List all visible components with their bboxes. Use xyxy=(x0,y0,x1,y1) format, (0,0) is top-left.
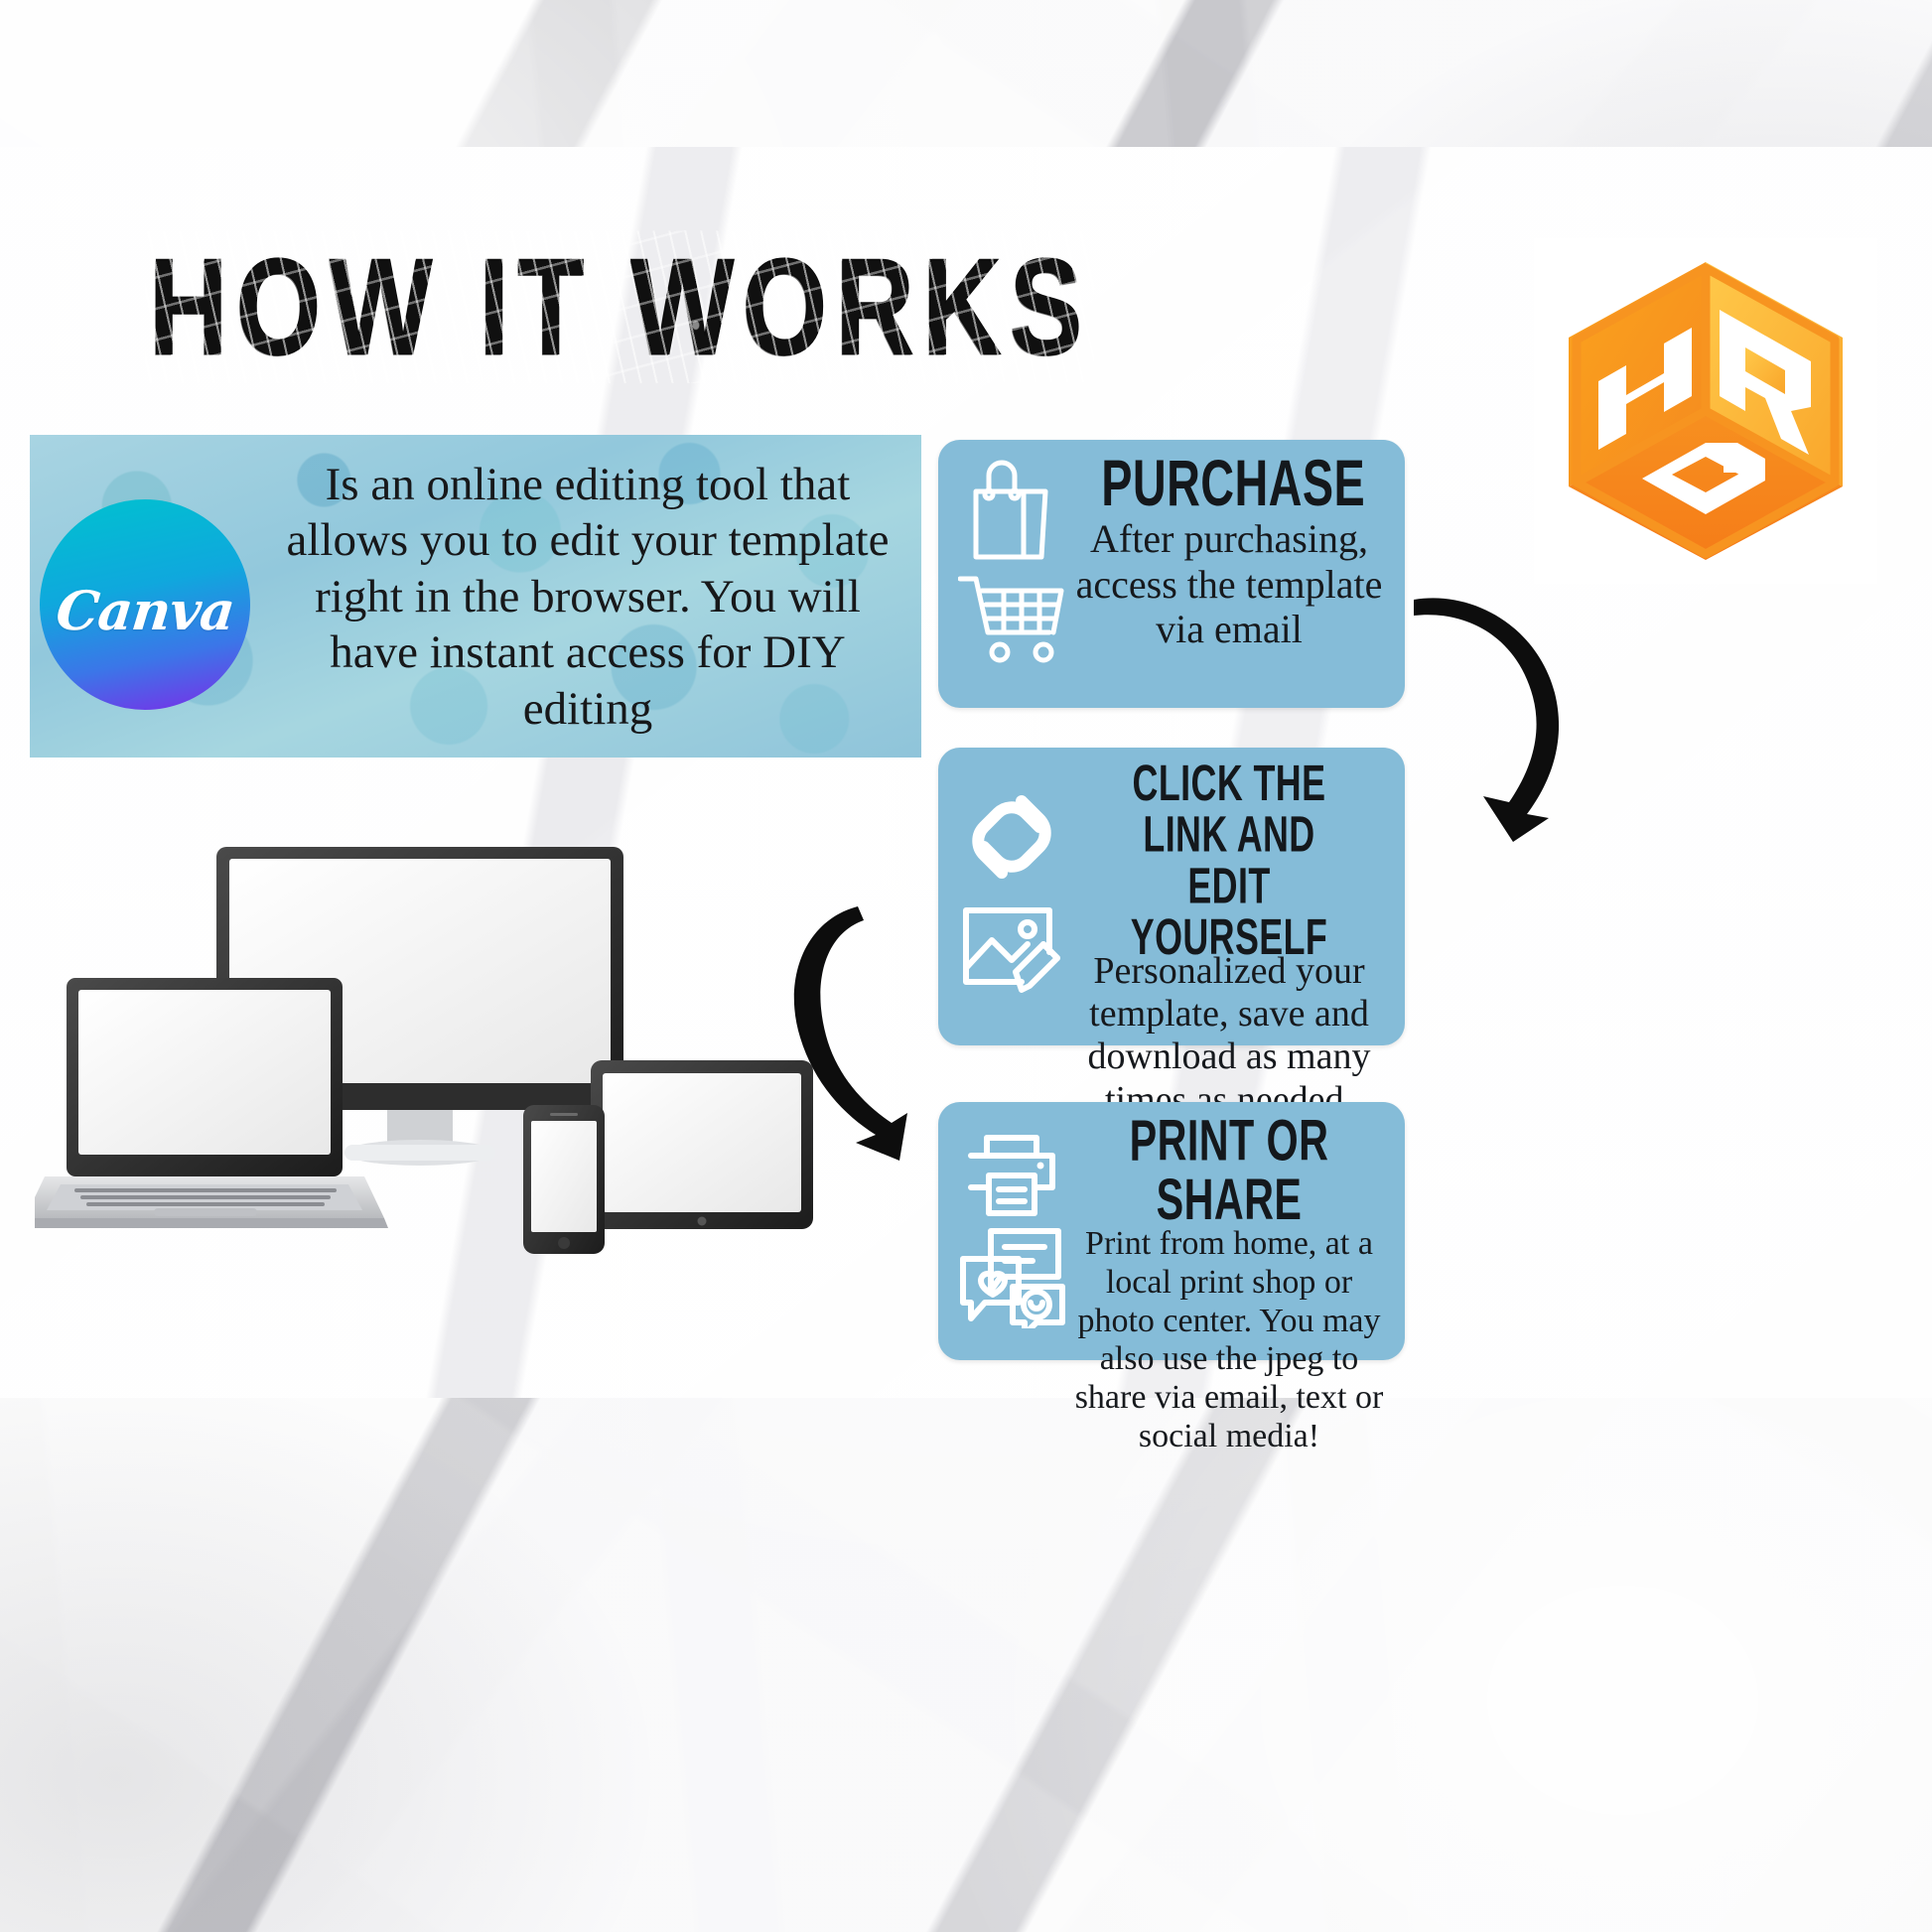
curved-arrow-down-icon xyxy=(784,898,963,1167)
device-phone xyxy=(523,1105,605,1254)
page-title: HOW IT WORKS xyxy=(149,238,1090,375)
arrow-purchase-to-edit xyxy=(1410,586,1579,844)
shopping-bag-icon xyxy=(962,454,1061,565)
step-2-body: CLICK THE LINK AND EDIT YOURSELF Persona… xyxy=(1065,758,1393,1122)
canva-logo-label: Canva xyxy=(53,579,236,642)
step-3-description: Print from home, at a local print shop o… xyxy=(1065,1225,1393,1456)
image-edit-icon xyxy=(958,897,1065,996)
step-card-click-edit[interactable]: CLICK THE LINK AND EDIT YOURSELF Persona… xyxy=(938,748,1405,1045)
step-3-title: PRINT OR SHARE xyxy=(1101,1112,1356,1230)
devices-mockup xyxy=(35,839,819,1256)
step-1-title: PURCHASE xyxy=(1101,450,1356,516)
curved-arrow-down-icon xyxy=(1410,586,1579,844)
canva-description: Is an online editing tool that allows yo… xyxy=(272,457,903,737)
step-1-description: After purchasing, access the template vi… xyxy=(1065,516,1393,652)
canva-info-panel: Canva Is an online editing tool that all… xyxy=(30,435,921,758)
share-chat-icon xyxy=(957,1225,1066,1328)
step-3-body: PRINT OR SHARE Print from home, at a loc… xyxy=(1065,1112,1393,1456)
device-laptop xyxy=(35,978,388,1228)
step-card-purchase[interactable]: PURCHASE After purchasing, access the te… xyxy=(938,440,1405,708)
link-chain-icon xyxy=(960,783,1063,891)
step-1-body: PURCHASE After purchasing, access the te… xyxy=(1065,450,1393,652)
hrg-cube-logo-icon xyxy=(1561,262,1851,560)
printer-icon xyxy=(961,1116,1062,1219)
step-3-icons xyxy=(956,1116,1067,1328)
step-card-print-share[interactable]: PRINT OR SHARE Print from home, at a loc… xyxy=(938,1102,1405,1360)
brand-logo-box xyxy=(1534,238,1877,584)
device-tablet xyxy=(591,1060,813,1229)
step-2-icons xyxy=(956,761,1067,996)
arrow-edit-to-print xyxy=(784,898,963,1167)
step-2-description: Personalized your template, save and dow… xyxy=(1065,950,1393,1122)
canva-logo-icon: Canva xyxy=(40,499,250,710)
step-2-title: CLICK THE LINK AND EDIT YOURSELF xyxy=(1101,758,1356,962)
devices-illustration xyxy=(35,839,819,1256)
page-title-text: HOW IT WORKS xyxy=(149,229,1090,383)
step-1-icons xyxy=(956,454,1067,666)
shopping-cart-icon xyxy=(958,571,1065,666)
